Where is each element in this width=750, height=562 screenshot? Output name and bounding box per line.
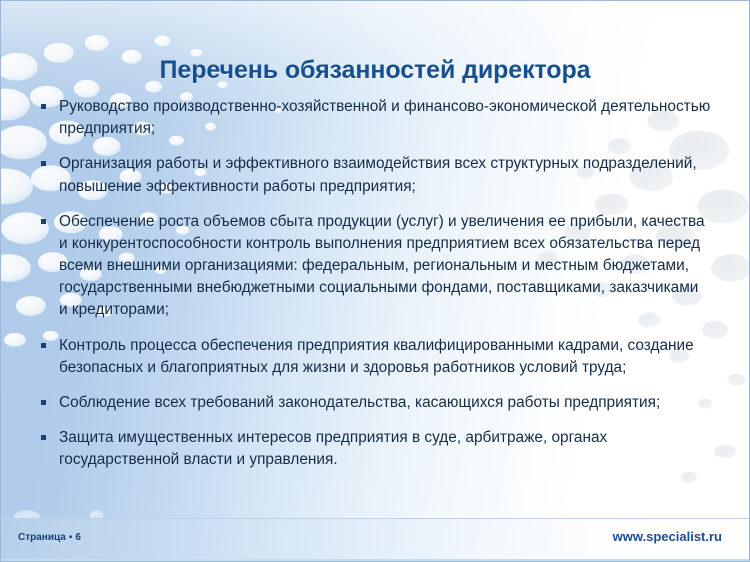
slide: Перечень обязанностей директора Руководс… <box>0 0 750 562</box>
list-item: Соблюдение всех требований законодательс… <box>39 392 711 414</box>
list-item-text: Обеспечение роста объемов сбыта продукци… <box>59 213 705 319</box>
list-item-text: Контроль процесса обеспечения предприяти… <box>59 337 694 376</box>
page-word: Страница <box>18 532 66 543</box>
slide-title: Перечень обязанностей директора <box>1 56 749 85</box>
list-item: Обеспечение роста объемов сбыта продукци… <box>39 211 711 322</box>
duties-list: Руководство производственно-хозяйственно… <box>39 96 711 471</box>
list-item-text: Организация работы и эффективного взаимо… <box>59 155 697 194</box>
list-item: Организация работы и эффективного взаимо… <box>39 153 711 197</box>
list-item: Руководство производственно-хозяйственно… <box>39 96 711 140</box>
page-separator-icon: ▪ <box>69 532 73 543</box>
page-indicator: Страница▪6 <box>18 532 81 543</box>
page-number: 6 <box>75 532 81 543</box>
list-item-text: Защита имущественных интересов предприят… <box>59 429 607 468</box>
bullet-square-icon <box>41 400 46 405</box>
list-item: Защита имущественных интересов предприят… <box>39 427 711 471</box>
slide-footer: Страница▪6 www.specialist.ru <box>1 518 749 561</box>
footer-divider <box>1 559 749 561</box>
list-item-text: Руководство производственно-хозяйственно… <box>59 98 710 137</box>
bullet-square-icon <box>41 161 46 166</box>
slide-body: Руководство производственно-хозяйственно… <box>39 96 711 471</box>
site-url[interactable]: www.specialist.ru <box>613 529 722 544</box>
bullet-square-icon <box>41 104 46 109</box>
bullet-square-icon <box>41 219 46 224</box>
bullet-square-icon <box>41 435 46 440</box>
list-item-text: Соблюдение всех требований законодательс… <box>59 394 660 411</box>
list-item: Контроль процесса обеспечения предприяти… <box>39 335 711 379</box>
bullet-square-icon <box>41 343 46 348</box>
